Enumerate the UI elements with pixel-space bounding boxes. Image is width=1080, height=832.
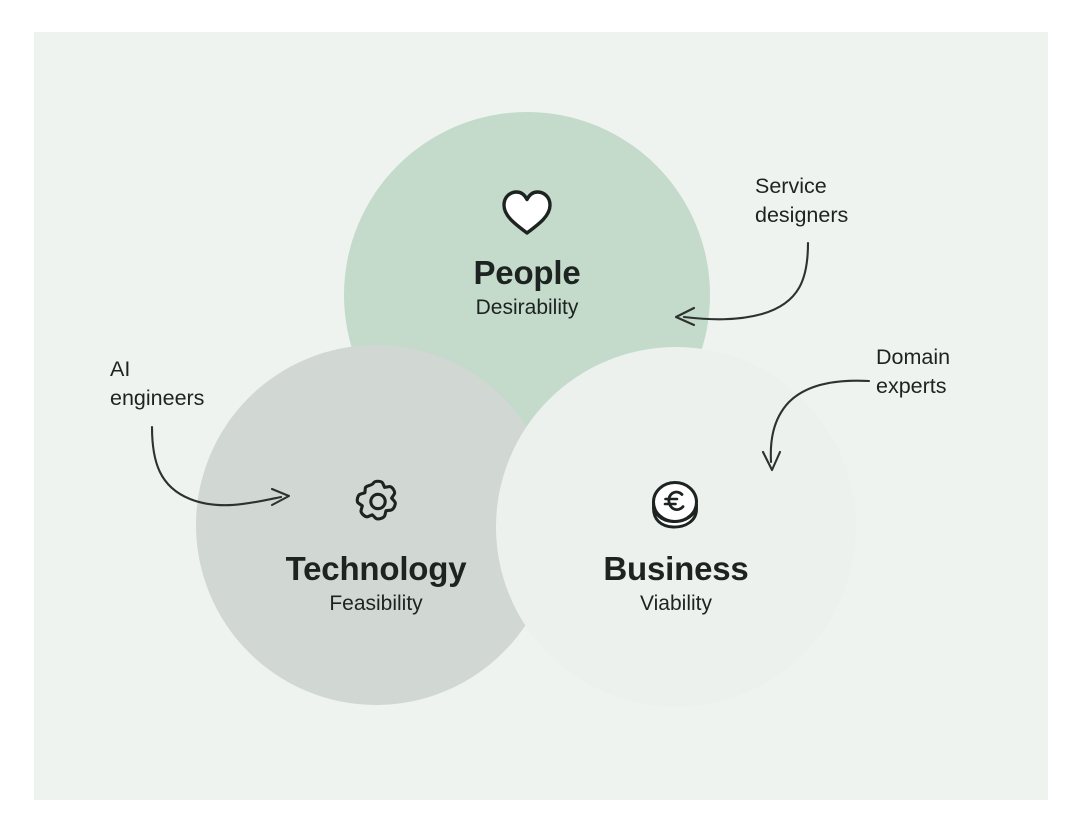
callout-domain-experts: Domain experts bbox=[876, 343, 950, 402]
arrow-domain-experts bbox=[771, 381, 869, 462]
lobe-label-people: People Desirability bbox=[377, 256, 677, 319]
people-subtitle: Desirability bbox=[377, 296, 677, 319]
lobe-label-business: Business Viability bbox=[526, 552, 826, 615]
callout-ai-engineers: AI engineers bbox=[110, 355, 204, 414]
technology-subtitle: Feasibility bbox=[226, 592, 526, 615]
diagram-canvas: People Desirability Technology Feasibili… bbox=[0, 0, 1080, 832]
callout-service-designers: Service designers bbox=[755, 172, 848, 231]
arrow-service-designers bbox=[684, 243, 808, 319]
technology-title: Technology bbox=[226, 552, 526, 587]
business-title: Business bbox=[526, 552, 826, 587]
arrow-ai-engineers bbox=[152, 427, 281, 505]
heart-icon bbox=[497, 186, 557, 238]
people-title: People bbox=[377, 256, 677, 291]
gear-icon bbox=[352, 478, 404, 530]
euro-coin-icon bbox=[648, 478, 704, 532]
business-subtitle: Viability bbox=[526, 592, 826, 615]
lobe-label-technology: Technology Feasibility bbox=[226, 552, 526, 615]
callout-arrows bbox=[0, 0, 1080, 832]
